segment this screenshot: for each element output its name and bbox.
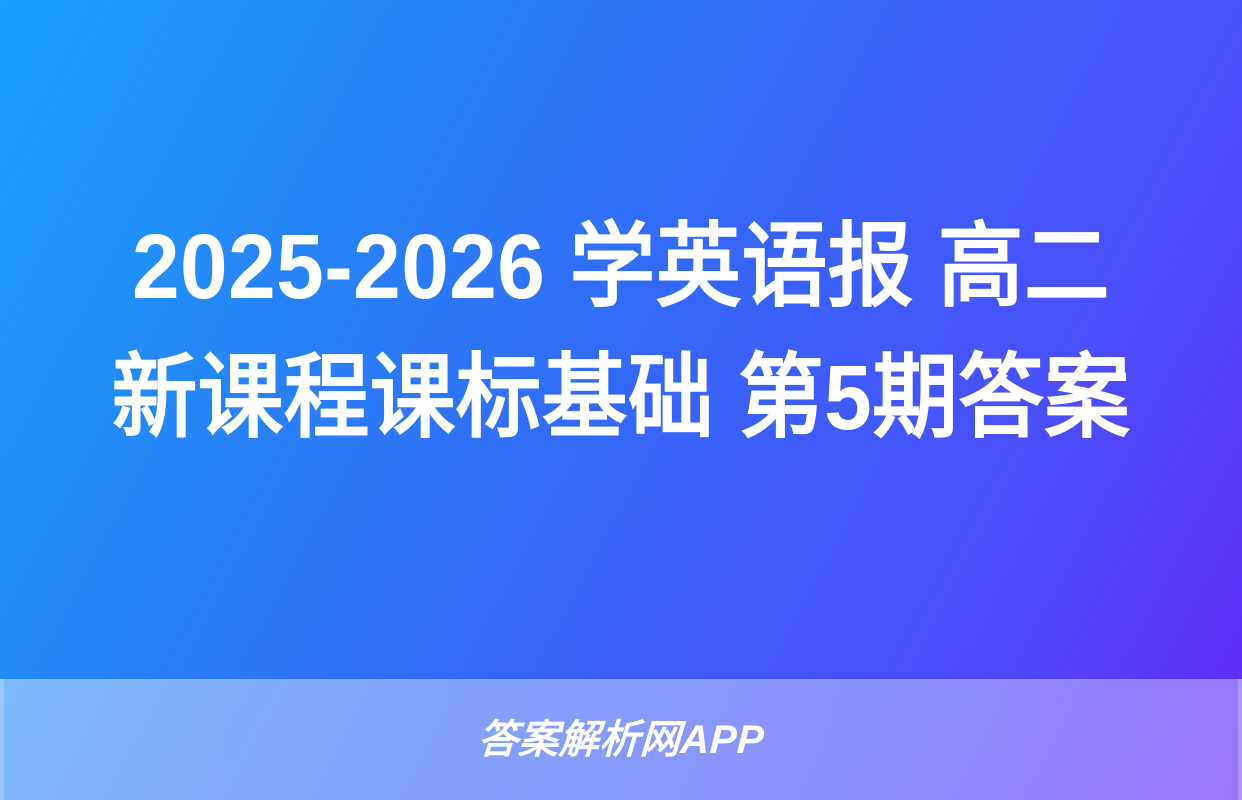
app-brand-label: 答案解析网APP xyxy=(477,720,765,760)
footer-brand-band: 答案解析网APP xyxy=(0,679,1242,800)
title-card: 2025-2026 学英语报 高二 新课程课标基础 第5期答案 答案解析网APP xyxy=(0,0,1242,800)
page-title: 2025-2026 学英语报 高二 新课程课标基础 第5期答案 xyxy=(86,202,1156,463)
hero-section: 2025-2026 学英语报 高二 新课程课标基础 第5期答案 xyxy=(0,0,1242,679)
